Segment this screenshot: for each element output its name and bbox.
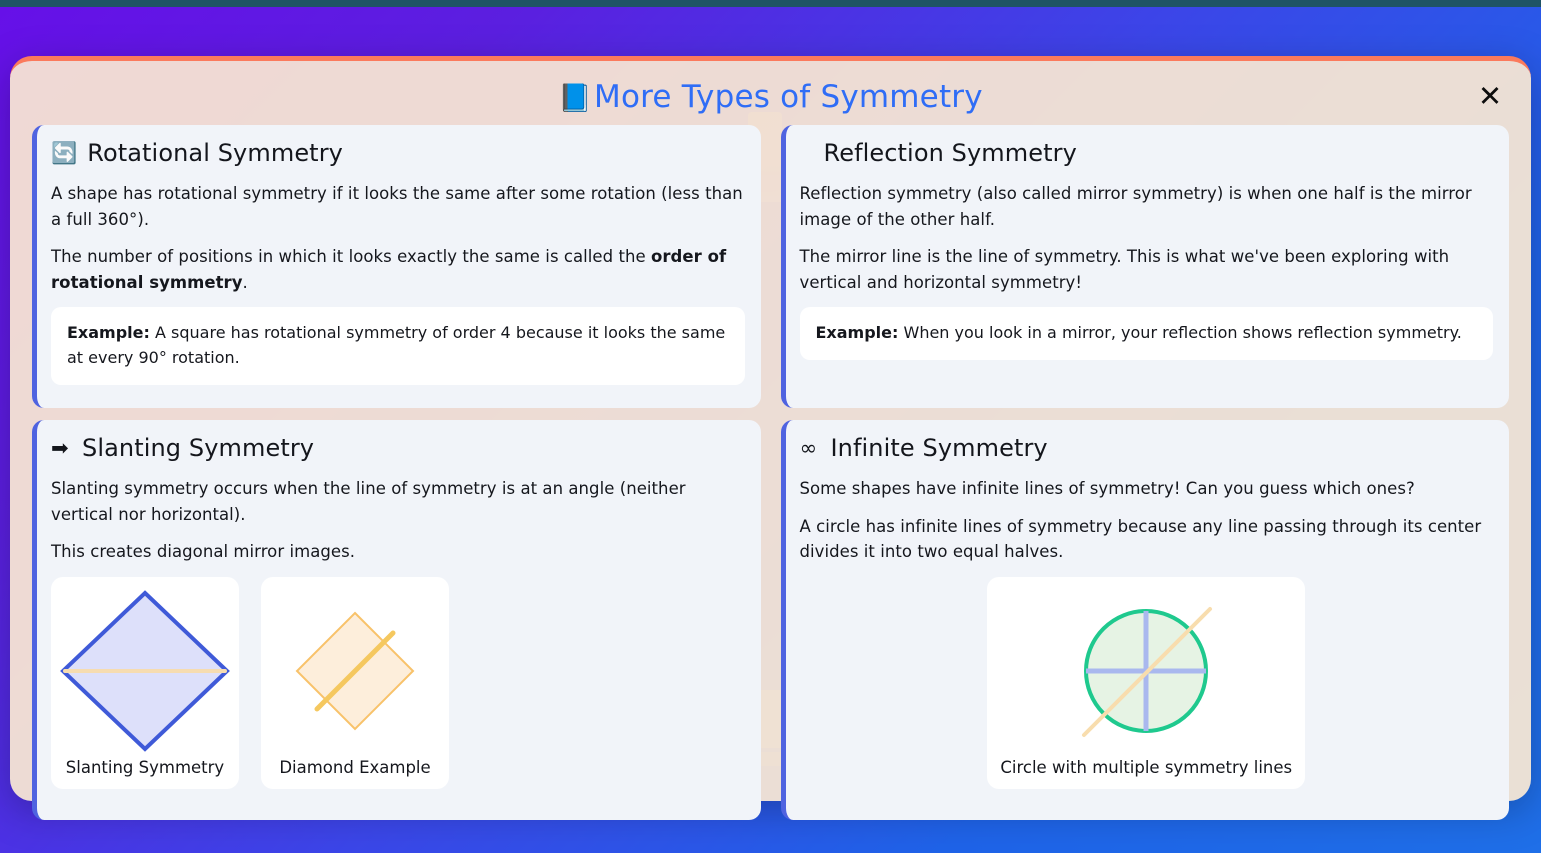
slanting-symmetry-diagram[interactable]: Slanting Symmetry bbox=[51, 577, 239, 789]
example-box-reflection: Example: When you look in a mirror, your… bbox=[800, 307, 1494, 360]
card-title-text: Slanting Symmetry bbox=[82, 434, 314, 462]
card-rotational-symmetry: 🔄 Rotational Symmetry A shape has rotati… bbox=[32, 125, 761, 408]
shape-label: Circle with multiple symmetry lines bbox=[1000, 758, 1292, 779]
card-paragraph: The mirror line is the line of symmetry.… bbox=[800, 244, 1494, 295]
arrow-right-icon: ➡ bbox=[51, 438, 72, 459]
paragraph-text: . bbox=[243, 273, 248, 292]
rotate-icon: 🔄 bbox=[51, 143, 77, 164]
diamond-peach-svg bbox=[271, 587, 439, 755]
infinite-shape-row: Circle with multiple symmetry lines bbox=[800, 577, 1494, 789]
card-infinite-symmetry: ∞ Infinite Symmetry Some shapes have inf… bbox=[781, 420, 1510, 820]
example-label: Example: bbox=[816, 323, 899, 342]
card-paragraph: A circle has infinite lines of symmetry … bbox=[800, 514, 1494, 565]
card-title-text: Rotational Symmetry bbox=[87, 139, 343, 167]
card-title-rotational: 🔄 Rotational Symmetry bbox=[51, 139, 745, 167]
paragraph-text: This creates diagonal mirror images. bbox=[51, 542, 355, 561]
circle-svg bbox=[1058, 587, 1234, 755]
card-reflection-symmetry: Reflection Symmetry Reflection symmetry … bbox=[781, 125, 1510, 408]
book-icon: 📘 bbox=[558, 85, 592, 112]
example-text: A square has rotational symmetry of orde… bbox=[67, 323, 725, 367]
shape-label: Diamond Example bbox=[279, 758, 430, 779]
page-title-text: More Types of Symmetry bbox=[594, 79, 983, 115]
paragraph-text: Slanting symmetry occurs when the line o… bbox=[51, 479, 686, 524]
paragraph-text: A circle has infinite lines of symmetry … bbox=[800, 517, 1482, 562]
card-title-text: Reflection Symmetry bbox=[824, 139, 1077, 167]
card-paragraph: A shape has rotational symmetry if it lo… bbox=[51, 181, 745, 232]
card-slanting-symmetry: ➡ Slanting Symmetry Slanting symmetry oc… bbox=[32, 420, 761, 820]
card-title-slanting: ➡ Slanting Symmetry bbox=[51, 434, 745, 462]
example-text: When you look in a mirror, your reflecti… bbox=[898, 323, 1461, 342]
page-title: 📘 More Types of Symmetry bbox=[558, 79, 983, 115]
diamond-example-canvas bbox=[267, 585, 443, 758]
paragraph-text: The mirror line is the line of symmetry.… bbox=[800, 247, 1450, 292]
card-paragraph: This creates diagonal mirror images. bbox=[51, 539, 745, 565]
example-label: Example: bbox=[67, 323, 150, 342]
screen-top-strip bbox=[0, 0, 1541, 7]
slanting-shape-row: Slanting Symmetry Diamond Example bbox=[51, 577, 745, 789]
symmetry-cards-grid: 🔄 Rotational Symmetry A shape has rotati… bbox=[32, 125, 1509, 820]
close-icon[interactable]: ✕ bbox=[1473, 79, 1507, 113]
diamond-example-diagram[interactable]: Diamond Example bbox=[261, 577, 449, 789]
diamond-blue-svg bbox=[57, 587, 233, 755]
circle-symmetry-diagram[interactable]: Circle with multiple symmetry lines bbox=[987, 577, 1305, 789]
shape-label: Slanting Symmetry bbox=[66, 758, 224, 779]
card-paragraph: Reflection symmetry (also called mirror … bbox=[800, 181, 1494, 232]
card-title-reflection: Reflection Symmetry bbox=[800, 139, 1494, 167]
card-title-text: Infinite Symmetry bbox=[831, 434, 1048, 462]
card-paragraph: Some shapes have infinite lines of symme… bbox=[800, 476, 1494, 502]
paragraph-text: A shape has rotational symmetry if it lo… bbox=[51, 184, 743, 229]
infinity-icon: ∞ bbox=[800, 438, 821, 459]
card-paragraph: Slanting symmetry occurs when the line o… bbox=[51, 476, 745, 527]
paragraph-text: The number of positions in which it look… bbox=[51, 247, 651, 266]
example-box-rotational: Example: A square has rotational symmetr… bbox=[51, 307, 745, 385]
paragraph-text: Reflection symmetry (also called mirror … bbox=[800, 184, 1472, 229]
slanting-symmetry-canvas bbox=[57, 585, 233, 758]
card-title-infinite: ∞ Infinite Symmetry bbox=[800, 434, 1494, 462]
paragraph-text: Some shapes have infinite lines of symme… bbox=[800, 479, 1415, 498]
card-paragraph: The number of positions in which it look… bbox=[51, 244, 745, 295]
modal-header: 📘 More Types of Symmetry ✕ bbox=[32, 71, 1509, 123]
more-types-of-symmetry-modal: 📘 More Types of Symmetry ✕ 🔄 Rotational … bbox=[10, 56, 1531, 801]
circle-symmetry-canvas bbox=[993, 585, 1299, 758]
